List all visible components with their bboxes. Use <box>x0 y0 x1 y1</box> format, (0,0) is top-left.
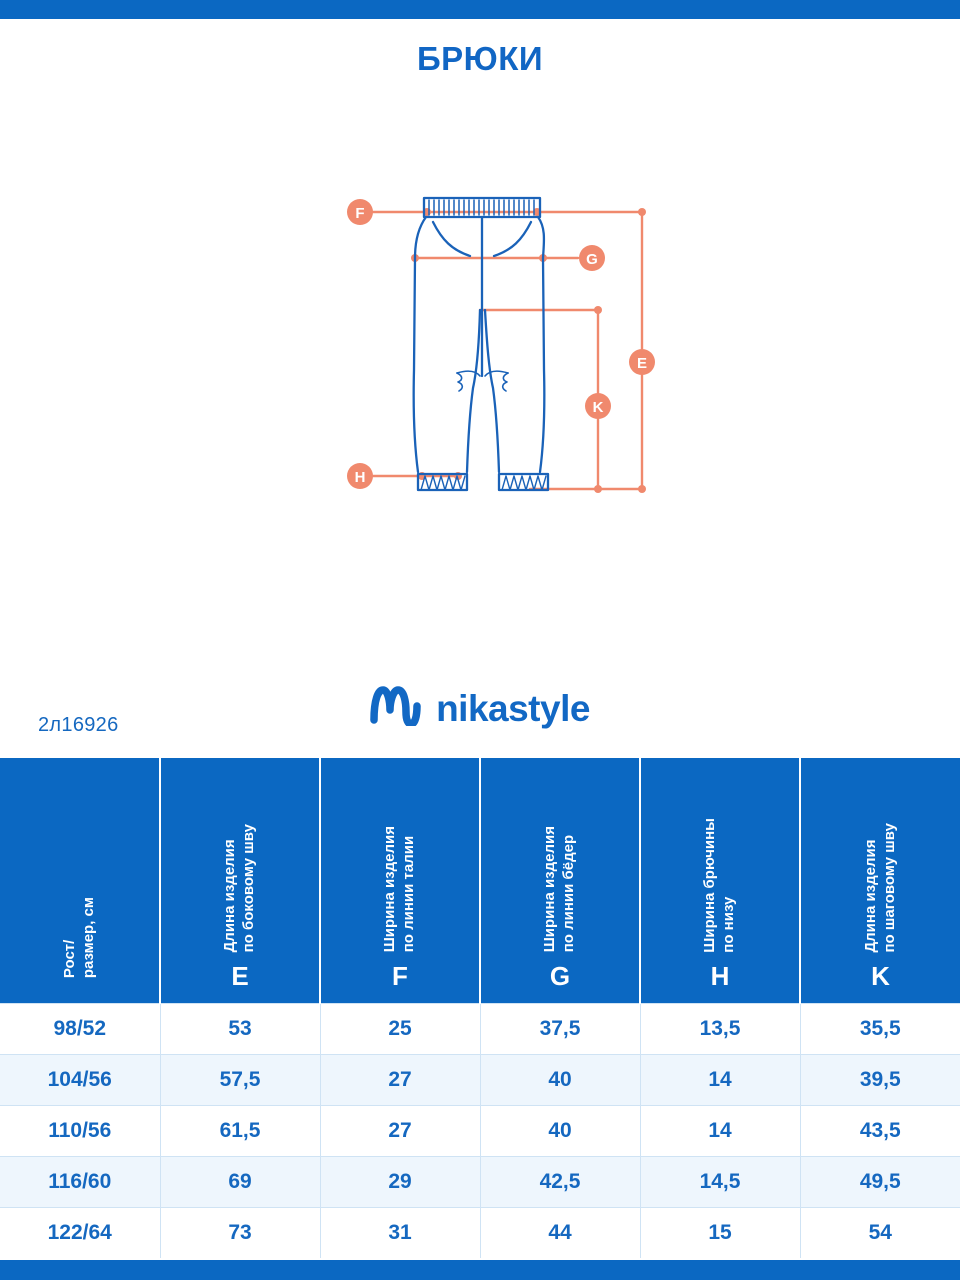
cell-g: 42,5 <box>480 1156 640 1207</box>
svg-text:E: E <box>637 355 647 372</box>
column-header-f: Ширина изделия по линии талии F <box>320 758 480 1003</box>
marker-K: K <box>585 393 611 419</box>
marker-F: F <box>347 199 373 225</box>
cell-e: 73 <box>160 1207 320 1258</box>
column-header-k: Длина изделия по шаговому шву K <box>800 758 960 1003</box>
column-header-letter: G <box>550 963 570 989</box>
cell-h: 14 <box>640 1105 800 1156</box>
cell-e: 61,5 <box>160 1105 320 1156</box>
svg-text:G: G <box>586 251 598 268</box>
cell-k: 54 <box>800 1207 960 1258</box>
cell-f: 29 <box>320 1156 480 1207</box>
page-title: БРЮКИ <box>0 40 960 78</box>
cell-g: 40 <box>480 1054 640 1105</box>
cell-g: 44 <box>480 1207 640 1258</box>
cell-k: 35,5 <box>800 1003 960 1054</box>
top-accent-bar <box>0 0 960 19</box>
size-table: Рост/ размер, см Длина изделия по боково… <box>0 758 960 1258</box>
table-row: 98/52 53 25 37,5 13,5 35,5 <box>0 1003 960 1054</box>
cell-k: 49,5 <box>800 1156 960 1207</box>
bottom-accent-bar <box>0 1260 960 1280</box>
column-header-h: Ширина брючины по низу H <box>640 758 800 1003</box>
cell-h: 14,5 <box>640 1156 800 1207</box>
column-header-text: Рост/ размер, см <box>61 897 99 978</box>
column-header-g: Ширина изделия по линии бёдер G <box>480 758 640 1003</box>
column-header-size: Рост/ размер, см <box>0 758 160 1003</box>
cell-e: 69 <box>160 1156 320 1207</box>
table-header-row: Рост/ размер, см Длина изделия по боково… <box>0 758 960 1003</box>
brand-logo: nikastyle <box>0 686 960 731</box>
column-header-text: Длина изделия по шаговому шву <box>862 823 900 953</box>
column-header-letter: F <box>392 963 408 989</box>
table-row: 104/56 57,5 27 40 14 39,5 <box>0 1054 960 1105</box>
cell-k: 43,5 <box>800 1105 960 1156</box>
cell-size: 122/64 <box>0 1207 160 1258</box>
cell-h: 14 <box>640 1054 800 1105</box>
column-header-text: Ширина изделия по линии талии <box>381 826 419 952</box>
cell-g: 40 <box>480 1105 640 1156</box>
marker-E: E <box>629 349 655 375</box>
svg-text:H: H <box>355 469 366 486</box>
cell-size: 104/56 <box>0 1054 160 1105</box>
size-chart-page: БРЮКИ <box>0 0 960 1280</box>
pants-technical-drawing: F G E K H <box>330 180 690 560</box>
marker-H: H <box>347 463 373 489</box>
column-header-letter: K <box>871 963 890 989</box>
cell-f: 27 <box>320 1105 480 1156</box>
column-header-letter: E <box>231 963 248 989</box>
svg-text:K: K <box>593 399 604 416</box>
column-header-letter: H <box>711 963 730 989</box>
cell-e: 57,5 <box>160 1054 320 1105</box>
table-row: 110/56 61,5 27 40 14 43,5 <box>0 1105 960 1156</box>
cell-g: 37,5 <box>480 1003 640 1054</box>
cell-size: 110/56 <box>0 1105 160 1156</box>
cell-f: 31 <box>320 1207 480 1258</box>
column-header-text: Длина изделия по боковому шву <box>221 824 259 952</box>
svg-text:F: F <box>355 205 364 222</box>
column-header-text: Ширина изделия по линии бёдер <box>541 826 579 952</box>
cell-size: 98/52 <box>0 1003 160 1054</box>
wave-logo-icon <box>370 686 422 731</box>
cell-h: 15 <box>640 1207 800 1258</box>
cell-f: 27 <box>320 1054 480 1105</box>
table-row: 122/64 73 31 44 15 54 <box>0 1207 960 1258</box>
table-row: 116/60 69 29 42,5 14,5 49,5 <box>0 1156 960 1207</box>
column-header-text: Ширина брючины по низу <box>701 818 739 953</box>
cell-f: 25 <box>320 1003 480 1054</box>
brand-name: nikastyle <box>436 688 590 730</box>
cell-k: 39,5 <box>800 1054 960 1105</box>
cell-h: 13,5 <box>640 1003 800 1054</box>
column-header-e: Длина изделия по боковому шву E <box>160 758 320 1003</box>
marker-G: G <box>579 245 605 271</box>
cell-size: 116/60 <box>0 1156 160 1207</box>
cell-e: 53 <box>160 1003 320 1054</box>
